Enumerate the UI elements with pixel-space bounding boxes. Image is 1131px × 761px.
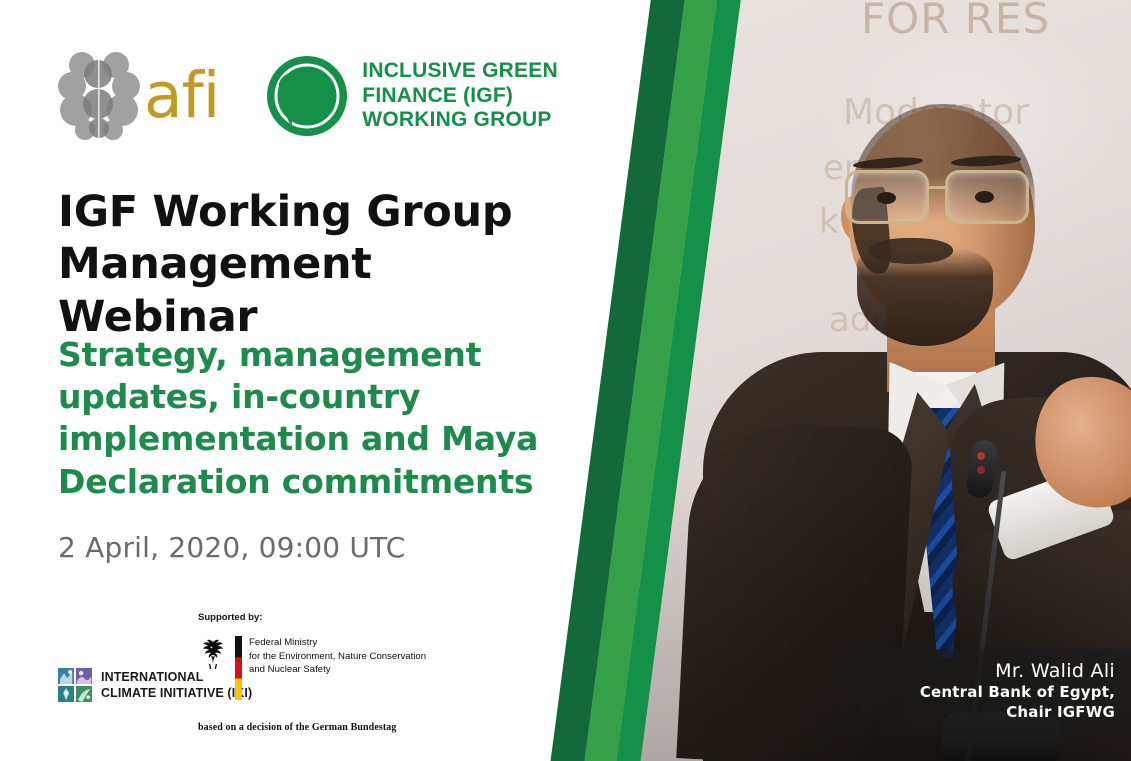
subtitle-line-1: Strategy, management	[58, 334, 558, 376]
bmu-line-2: for the Environment, Nature Conservation	[249, 650, 426, 664]
supported-by-label: Supported by:	[198, 612, 458, 623]
afi-brain-mark	[58, 52, 140, 140]
bmu-ministry-name: Federal Ministry for the Environment, Na…	[249, 635, 426, 677]
speaker-photo: FOR RES Moderator eneral Dep k of Egy ad…	[561, 0, 1131, 761]
mustache	[869, 238, 953, 264]
subtitle-line-4: Declaration commitments	[58, 461, 558, 503]
iki-tile-3	[58, 686, 74, 702]
bmu-logo-row: Federal Ministry for the Environment, Na…	[198, 635, 458, 700]
iki-tile-2	[76, 668, 92, 684]
iki-mark-icon	[58, 668, 92, 702]
bmu-line-3: and Nuclear Safety	[249, 663, 426, 677]
left-content: afi INCLUSIVE GREEN FINANCE (IGF)	[0, 0, 600, 761]
webinar-slide: FOR RES Moderator eneral Dep k of Egy ad…	[0, 0, 1131, 761]
logo-row: afi INCLUSIVE GREEN FINANCE (IGF)	[58, 52, 558, 140]
footer: INTERNATIONAL CLIMATE INITIATIVE (IKI) S…	[0, 612, 600, 761]
glasses-bridge	[929, 186, 947, 189]
iki-tile-4	[76, 686, 92, 702]
german-eagle-icon	[198, 636, 228, 670]
title-line-1: IGF Working Group	[58, 186, 578, 238]
speaker-caption: Mr. Walid Ali Central Bank of Egypt, Cha…	[821, 649, 1131, 735]
iki-tile-1	[58, 668, 74, 684]
speaker-figure	[681, 0, 1131, 761]
page-subtitle: Strategy, management updates, in-country…	[58, 334, 558, 503]
german-flag-bar	[235, 636, 242, 700]
igf-line-3: WORKING GROUP	[362, 108, 558, 133]
bmu-support-block: Supported by: Feder	[198, 612, 458, 733]
eye-right	[975, 191, 994, 203]
igf-globe-mark	[265, 54, 349, 138]
subtitle-line-2: updates, in-country	[58, 376, 558, 418]
igf-line-2: FINANCE (IGF)	[362, 84, 558, 109]
igf-logo: INCLUSIVE GREEN FINANCE (IGF) WORKING GR…	[265, 54, 558, 138]
microphone-indicator	[977, 452, 985, 460]
event-datetime: 2 April, 2020, 09:00 UTC	[58, 531, 405, 564]
eye-left	[877, 192, 896, 204]
eyeglasses	[841, 170, 1051, 226]
title-line-2: Management Webinar	[58, 238, 578, 343]
bundestag-decision-note: based on a decision of the German Bundes…	[198, 722, 458, 733]
igf-wordmark: INCLUSIVE GREEN FINANCE (IGF) WORKING GR…	[362, 59, 558, 133]
igf-line-1: INCLUSIVE GREEN	[362, 59, 558, 84]
speaker-org-line-2: Chair IGFWG	[839, 703, 1115, 723]
afi-logo: afi	[58, 52, 219, 140]
subtitle-line-3: implementation and Maya	[58, 418, 558, 460]
page-title: IGF Working Group Management Webinar	[58, 186, 578, 343]
speaker-org-line-1: Central Bank of Egypt,	[839, 683, 1115, 703]
afi-wordmark: afi	[144, 71, 219, 121]
bmu-line-1: Federal Ministry	[249, 636, 426, 650]
speaker-name: Mr. Walid Ali	[839, 659, 1115, 684]
